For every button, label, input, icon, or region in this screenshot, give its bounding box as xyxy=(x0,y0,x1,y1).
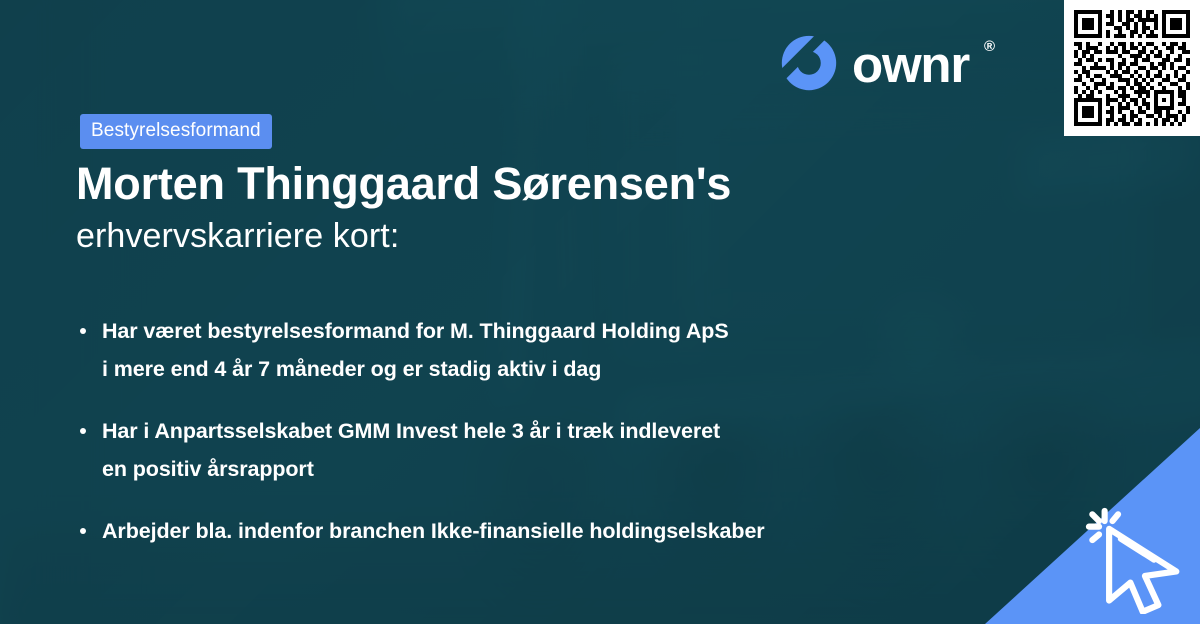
ownr-logo: ownr ® xyxy=(780,34,994,92)
career-highlights-list: Har været bestyrelsesformand for M. Thin… xyxy=(76,312,1056,550)
qr-code-icon[interactable] xyxy=(1064,0,1200,136)
list-item-line-2: en positiv årsrapport xyxy=(102,450,1056,488)
page-title-line-1: Morten Thinggaard Sørensen's xyxy=(76,156,1036,212)
bullet-dot-icon xyxy=(80,428,86,434)
bullet-dot-icon xyxy=(80,528,86,534)
registered-trademark-icon: ® xyxy=(984,38,995,55)
card-content: Bestyrelsesformand Morten Thinggaard Sør… xyxy=(0,0,1200,624)
list-item-line-1: Har været bestyrelsesformand for M. Thin… xyxy=(102,312,1056,350)
ownr-wordmark: ownr xyxy=(852,39,969,90)
role-badge: Bestyrelsesformand xyxy=(80,114,272,149)
click-cursor-icon xyxy=(1080,502,1192,614)
list-item-line-1: Arbejder bla. indenfor branchen Ikke-fin… xyxy=(102,512,1056,550)
list-item: Har i Anpartsselskabet GMM Invest hele 3… xyxy=(76,412,1056,488)
career-summary-card: Bestyrelsesformand Morten Thinggaard Sør… xyxy=(0,0,1200,624)
page-title-line-2: erhvervskarriere kort: xyxy=(76,212,1036,260)
bullet-dot-icon xyxy=(80,328,86,334)
page-title: Morten Thinggaard Sørensen's erhvervskar… xyxy=(76,156,1036,260)
list-item-line-2: i mere end 4 år 7 måneder og er stadig a… xyxy=(102,350,1056,388)
ownr-circle-swoosh-icon xyxy=(780,34,838,92)
list-item-line-1: Har i Anpartsselskabet GMM Invest hele 3… xyxy=(102,412,1056,450)
list-item: Har været bestyrelsesformand for M. Thin… xyxy=(76,312,1056,388)
list-item: Arbejder bla. indenfor branchen Ikke-fin… xyxy=(76,512,1056,550)
